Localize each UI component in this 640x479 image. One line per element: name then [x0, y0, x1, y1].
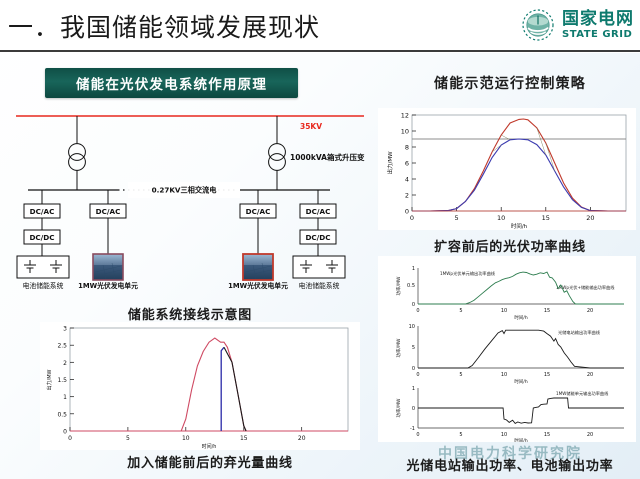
svg-text:功率/MW: 功率/MW: [395, 398, 402, 417]
svg-text:0: 0: [68, 435, 72, 442]
svg-text:电池储能系统: 电池储能系统: [23, 281, 64, 290]
section-banner-left-label: 储能在光伏发电系统作用原理: [76, 73, 267, 93]
svg-text:20: 20: [587, 372, 593, 378]
svg-text:时间/h: 时间/h: [202, 443, 217, 450]
svg-text:0: 0: [412, 366, 415, 372]
svg-text:12: 12: [401, 112, 409, 120]
svg-text:10: 10: [401, 128, 409, 136]
svg-text:1: 1: [63, 394, 67, 401]
svg-text:15: 15: [240, 435, 248, 442]
state-grid-logo: 国家电网 STATE GRID: [521, 6, 634, 44]
svg-text:1: 1: [412, 266, 415, 272]
svg-text:0: 0: [416, 308, 419, 314]
svg-text:DC/AC: DC/AC: [30, 207, 55, 216]
svg-text:DC/DC: DC/DC: [29, 233, 54, 242]
svg-text:0: 0: [410, 214, 414, 222]
svg-text:10: 10: [501, 372, 507, 378]
svg-text:0: 0: [416, 432, 419, 438]
svg-text:6: 6: [405, 160, 409, 168]
svg-text:10: 10: [497, 214, 505, 222]
header-divider: [0, 50, 640, 52]
svg-text:DC/AC: DC/AC: [96, 207, 121, 216]
slide-header: 一．我国储能领域发展现状 国家电网 STATE GRID: [0, 0, 640, 53]
svg-text:1MW光伏发电单元: 1MW光伏发电单元: [228, 281, 288, 290]
svg-text:4: 4: [405, 176, 409, 184]
svg-text:15: 15: [544, 308, 550, 314]
svg-text:出力/MW: 出力/MW: [386, 151, 394, 175]
svg-text:0.5: 0.5: [57, 411, 67, 418]
globe-icon: [521, 8, 555, 42]
svg-text:10: 10: [409, 324, 415, 330]
svg-text:功率/MW: 功率/MW: [395, 338, 402, 357]
svg-text:1MW光伏发电单元: 1MW光伏发电单元: [78, 281, 138, 290]
svg-text:5: 5: [459, 372, 462, 378]
svg-text:20: 20: [298, 435, 306, 442]
svg-text:1MW储能单元输出功率曲线: 1MW储能单元输出功率曲线: [556, 390, 609, 397]
section-banner-left: 储能在光伏发电系统作用原理: [45, 68, 298, 98]
svg-text:5: 5: [459, 432, 462, 438]
svg-text:2: 2: [405, 192, 409, 200]
svg-text:时间/h: 时间/h: [514, 314, 528, 321]
chart-curtailment: 0 0.5 1 1.5 2 2.5 3 0 5 10 15 20 时间/h 出力…: [40, 322, 360, 450]
svg-text:DC/AC: DC/AC: [246, 207, 271, 216]
svg-text:8: 8: [405, 144, 409, 152]
chart-plant-battery-output: 00.51 0510 1520 时间/h 功率/MW 1MWp光伏单元输出功率曲…: [378, 256, 636, 442]
svg-text:0: 0: [405, 208, 409, 216]
page-title: 一．我国储能领域发展现状: [8, 8, 320, 44]
svg-text:10: 10: [501, 432, 507, 438]
brand-name-en: STATE GRID: [562, 30, 634, 40]
brand-name-cn: 国家电网: [562, 11, 634, 28]
svg-text:-1: -1: [410, 426, 415, 432]
svg-text:光储电站输出功率曲线: 光储电站输出功率曲线: [558, 329, 601, 336]
svg-text:1000kVA箱式升压变: 1000kVA箱式升压变: [290, 152, 365, 162]
svg-text:0: 0: [412, 406, 415, 412]
svg-text:1MWp光伏单元输出功率曲线: 1MWp光伏单元输出功率曲线: [440, 270, 496, 277]
svg-text:时间/h: 时间/h: [511, 222, 528, 230]
svg-text:3: 3: [63, 326, 67, 333]
svg-text:时间/h: 时间/h: [514, 437, 528, 442]
svg-text:5: 5: [126, 435, 130, 442]
svg-text:20: 20: [586, 214, 594, 222]
svg-text:10: 10: [182, 435, 190, 442]
svg-text:5: 5: [455, 214, 459, 222]
svg-text:10: 10: [501, 308, 507, 314]
chart-pv-power-expansion: 0 2 4 6 8 10 12 0 5 10 15 20 时间/h 出力/MW: [378, 108, 636, 230]
svg-text:1: 1: [412, 386, 415, 392]
svg-text:时间/h: 时间/h: [514, 378, 528, 385]
svg-text:1.5: 1.5: [57, 377, 67, 384]
svg-text:20: 20: [587, 308, 593, 314]
svg-text:5: 5: [459, 308, 462, 314]
caption-curtailment: 加入储能前后的弃光量曲线: [75, 452, 345, 471]
svg-text:0.5: 0.5: [407, 283, 415, 289]
svg-text:1MWp光伏+储能输出功率曲线: 1MWp光伏+储能输出功率曲线: [556, 284, 615, 291]
caption-pv-power-expansion: 扩容前后的光伏功率曲线: [390, 236, 630, 255]
svg-text:15: 15: [542, 214, 550, 222]
caption-wiring-diagram: 储能系统接线示意图: [60, 304, 320, 323]
caption-plant-battery-output: 光储电站输出功率、电池输出功率: [385, 455, 635, 474]
svg-text:DC/DC: DC/DC: [305, 233, 330, 242]
svg-text:DC/AC: DC/AC: [306, 207, 331, 216]
svg-text:5: 5: [412, 345, 415, 351]
svg-text:20: 20: [587, 432, 593, 438]
svg-text:15: 15: [544, 372, 550, 378]
svg-text:0.27KV三相交流电: 0.27KV三相交流电: [152, 186, 218, 195]
svg-text:15: 15: [544, 432, 550, 438]
svg-text:出力/MW: 出力/MW: [46, 369, 53, 390]
svg-text:功率/MW: 功率/MW: [395, 276, 402, 295]
svg-text:35KV: 35KV: [300, 122, 322, 131]
svg-text:2: 2: [63, 360, 67, 367]
svg-text:2.5: 2.5: [57, 343, 67, 350]
svg-text:电池储能系统: 电池储能系统: [299, 281, 340, 290]
svg-text:0: 0: [63, 429, 67, 436]
section-banner-right: 储能示范运行控制策略: [410, 70, 610, 96]
svg-text:0: 0: [416, 372, 419, 378]
section-banner-right-label: 储能示范运行控制策略: [434, 73, 586, 93]
single-line-diagram: 35KV 1000kVA箱式升压变 0.27KV三相交流电 DC/AC DC/D…: [0, 108, 380, 303]
svg-text:0: 0: [412, 302, 415, 308]
